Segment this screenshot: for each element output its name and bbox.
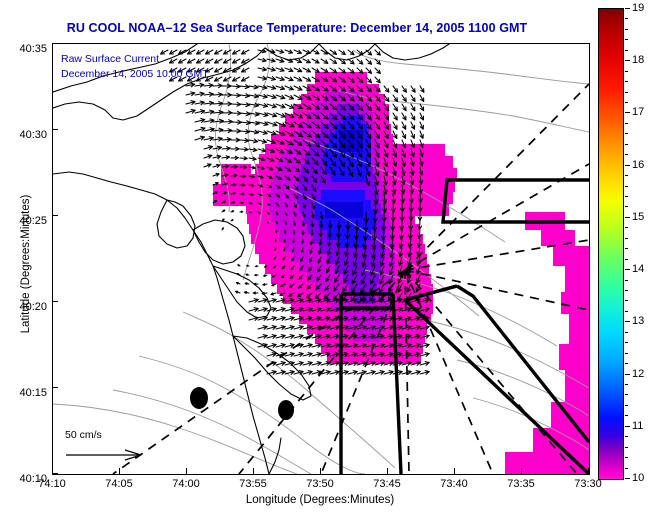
colorbar-minor-tick <box>625 436 628 437</box>
colorbar-minor-tick <box>625 133 628 134</box>
colorbar-minor-tick <box>625 29 628 30</box>
y-tick <box>52 215 58 216</box>
annotation-line-1: Raw Surface Current <box>61 53 159 65</box>
colorbar-minor-tick <box>625 39 628 40</box>
current-vector-head <box>256 266 257 267</box>
page-title: RU COOL NOAA–12 Sea Surface Temperature:… <box>0 21 594 35</box>
figure-canvas: RU COOL NOAA–12 Sea Surface Temperature:… <box>0 0 651 519</box>
annotation-line-2: December 14, 2005 10:00 GMT <box>61 68 209 80</box>
x-tick-label: 73:50 <box>306 478 334 490</box>
colorbar-tick-label: 14 <box>632 263 644 275</box>
colorbar-minor-tick <box>625 300 628 301</box>
current-vector-head <box>259 212 260 213</box>
colorbar-minor-tick <box>625 50 628 51</box>
y-tick <box>52 301 58 302</box>
colorbar <box>598 8 624 480</box>
colorbar-tick-label: 15 <box>632 211 644 223</box>
colorbar-minor-tick <box>625 92 628 93</box>
colorbar-minor-tick <box>625 186 628 187</box>
current-vector-head <box>232 220 233 221</box>
current-vector-head <box>267 222 268 223</box>
x-tick <box>119 468 120 474</box>
x-tick-label: 74:05 <box>105 478 133 490</box>
x-tick-label: 73:55 <box>239 478 267 490</box>
colorbar-minor-tick <box>625 238 628 239</box>
current-vector-head <box>275 249 276 250</box>
colorbar-tick <box>625 321 630 322</box>
colorbar-minor-tick <box>625 102 628 103</box>
colorbar-tick <box>625 60 630 61</box>
station-markers <box>190 387 294 420</box>
colorbar-minor-tick <box>625 415 628 416</box>
colorbar-minor-tick <box>625 332 628 333</box>
colorbar-minor-tick <box>625 353 628 354</box>
colorbar-minor-tick <box>625 71 628 72</box>
x-tick <box>588 468 589 474</box>
colorbar-tick-label: 19 <box>632 2 644 14</box>
x-tick-label: 74:00 <box>172 478 200 490</box>
map-svg <box>53 44 589 474</box>
colorbar-tick <box>625 478 630 479</box>
plot-area: Raw Surface Current December 14, 2005 10… <box>52 43 590 475</box>
colorbar-minor-tick <box>625 405 628 406</box>
colorbar-minor-tick <box>625 290 628 291</box>
x-tick <box>454 468 455 474</box>
x-tick <box>186 468 187 474</box>
colorbar-gradient <box>599 9 623 479</box>
x-tick-label: 73:35 <box>507 478 535 490</box>
y-tick <box>52 43 58 44</box>
colorbar-tick <box>625 217 630 218</box>
colorbar-minor-tick <box>625 447 628 448</box>
colorbar-tick <box>625 112 630 113</box>
plot-inner: Raw Surface Current December 14, 2005 10… <box>53 44 589 474</box>
x-tick-label: 73:45 <box>373 478 401 490</box>
x-tick-label: 73:40 <box>440 478 468 490</box>
colorbar-minor-tick <box>625 81 628 82</box>
colorbar-minor-tick <box>625 468 628 469</box>
y-tick <box>52 473 58 474</box>
current-vector-head <box>275 240 276 241</box>
colorbar-minor-tick <box>625 259 628 260</box>
colorbar-minor-tick <box>625 248 628 249</box>
colorbar-minor-tick <box>625 18 628 19</box>
colorbar-minor-tick <box>625 154 628 155</box>
colorbar-minor-tick <box>625 384 628 385</box>
colorbar-minor-tick <box>625 227 628 228</box>
current-vector-head <box>250 212 251 213</box>
colorbar-minor-tick <box>625 206 628 207</box>
colorbar-tick-label: 11 <box>632 420 643 432</box>
colorbar-minor-tick <box>625 311 628 312</box>
colorbar-tick-label: 16 <box>632 159 644 171</box>
current-vector-head <box>241 211 242 212</box>
colorbar-minor-tick <box>625 457 628 458</box>
current-vector-head <box>247 265 248 266</box>
x-tick <box>253 468 254 474</box>
colorbar-tick <box>625 426 630 427</box>
colorbar-tick-label: 12 <box>632 368 644 380</box>
station-marker <box>278 400 294 420</box>
colorbar-tick <box>625 269 630 270</box>
y-tick <box>52 129 58 130</box>
y-tick <box>52 387 58 388</box>
colorbar-minor-tick <box>625 280 628 281</box>
station-marker <box>190 387 208 409</box>
colorbar-minor-tick <box>625 363 628 364</box>
colorbar-minor-tick <box>625 123 628 124</box>
colorbar-minor-tick <box>625 196 628 197</box>
colorbar-tick-label: 13 <box>632 315 644 327</box>
x-tick <box>320 468 321 474</box>
colorbar-minor-tick <box>625 342 628 343</box>
vector-scale-arrow-icon <box>65 448 155 462</box>
colorbar-tick <box>625 8 630 9</box>
current-vector-head <box>222 228 223 229</box>
current-vector-head <box>238 265 239 266</box>
vector-scale-label: 50 cm/s <box>65 429 102 441</box>
colorbar-tick-label: 17 <box>632 106 644 118</box>
x-tick <box>387 468 388 474</box>
x-axis-title: Longitude (Degrees:Minutes) <box>52 494 588 506</box>
colorbar-minor-tick <box>625 175 628 176</box>
current-vector-head <box>276 231 277 232</box>
y-axis-title: Latitude (Degrees:Minutes) <box>20 154 32 374</box>
colorbar-tick <box>625 165 630 166</box>
x-tick <box>521 468 522 474</box>
colorbar-tick-label: 10 <box>632 472 644 484</box>
colorbar-tick-label: 18 <box>632 54 644 66</box>
colorbar-tick <box>625 374 630 375</box>
colorbar-minor-tick <box>625 144 628 145</box>
colorbar-minor-tick <box>625 394 628 395</box>
